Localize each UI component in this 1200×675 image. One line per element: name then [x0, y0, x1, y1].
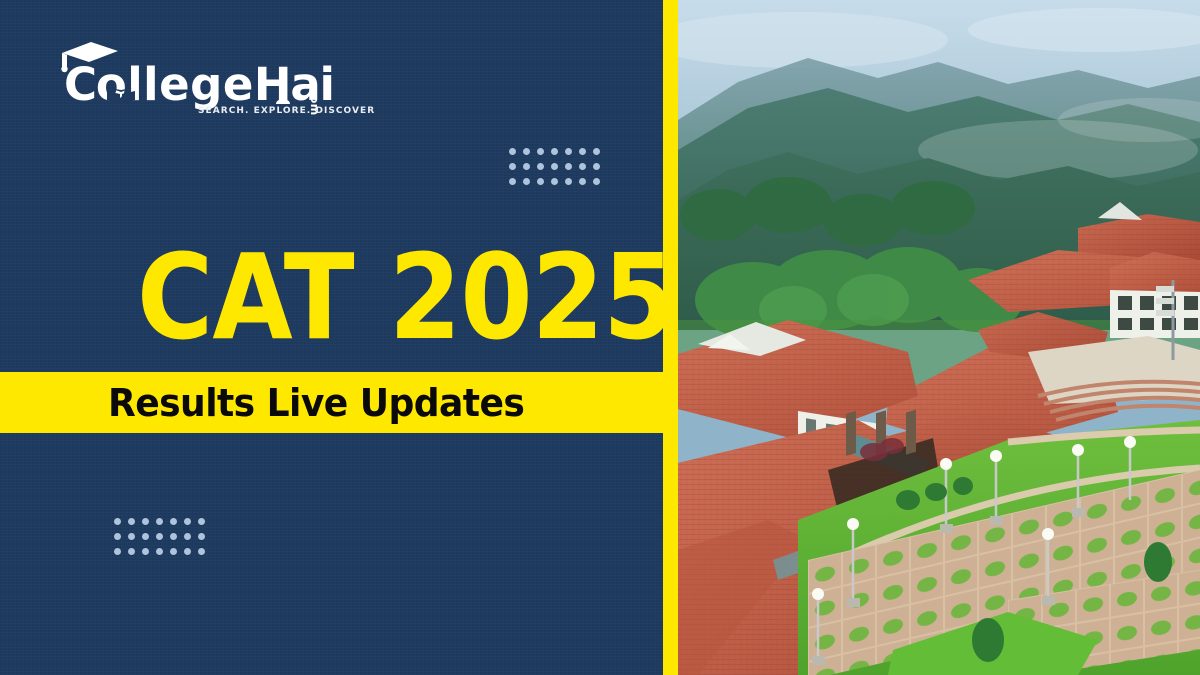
campus-aerial-photo [678, 0, 1200, 675]
cat-2025-results-banner: CollegeHai .com SEARCH. EXPLORE. DISCOVE… [0, 0, 1200, 675]
page-title: CAT 2025 [137, 238, 542, 358]
collegehai-logo[interactable]: CollegeHai .com SEARCH. EXPLORE. DISCOVE… [56, 40, 326, 118]
vertical-accent-divider [663, 0, 678, 675]
person-avatar-icon [275, 84, 291, 104]
subtitle-banner-bar: Results Live Updates [0, 372, 678, 433]
campus-illustration [678, 0, 1200, 675]
dot-grid-decoration-top [505, 144, 603, 189]
logo-tagline: SEARCH. EXPLORE. DISCOVER [198, 106, 375, 116]
left-content-panel: CollegeHai .com SEARCH. EXPLORE. DISCOVE… [0, 0, 663, 675]
logo-word-c: C [64, 58, 96, 111]
open-book-icon [106, 87, 136, 104]
page-subtitle: Results Live Updates [108, 384, 524, 422]
dot-grid-decoration-bottom [110, 514, 208, 559]
logo-wordmark: CollegeHai [64, 62, 334, 107]
